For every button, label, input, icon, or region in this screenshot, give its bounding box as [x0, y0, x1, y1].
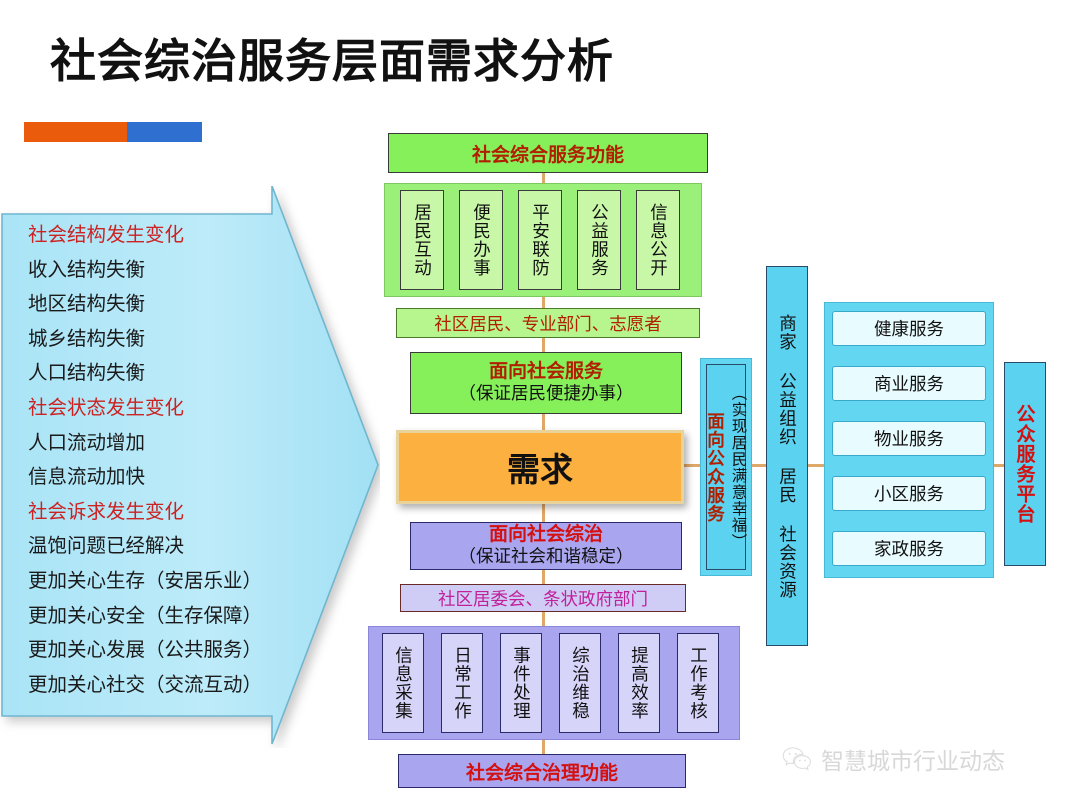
arrow-line: 更加关心生存（安居乐业） — [28, 564, 296, 599]
center-service-title: 面向社会服务 — [489, 360, 603, 384]
right-public-service-title: 面向公众服务 — [703, 412, 728, 523]
watermark: 智慧城市行业动态 — [782, 742, 1005, 776]
arrow-line: 地区结构失衡 — [28, 287, 296, 322]
arrow-text-list: 社会结构发生变化 收入结构失衡 地区结构失衡 城乡结构失衡 人口结构失衡 社会状… — [28, 218, 296, 702]
connector-line — [542, 338, 545, 352]
center-top-item[interactable]: 居民互动 — [400, 190, 444, 290]
watermark-text: 智慧城市行业动态 — [821, 742, 1005, 776]
center-top-header[interactable]: 社会综合服务功能 — [388, 133, 708, 173]
center-actors-top[interactable]: 社区居民、专业部门、志愿者 — [396, 308, 700, 338]
center-bottom-header[interactable]: 社会综合治理功能 — [398, 754, 686, 788]
arrow-line: 人口结构失衡 — [28, 356, 296, 391]
arrow-line: 城乡结构失衡 — [28, 322, 296, 357]
arrow-line: 社会状态发生变化 — [28, 391, 296, 426]
right-service-item[interactable]: 商业服务 — [832, 366, 986, 401]
connector-line — [542, 612, 545, 626]
left-arrow-panel: 社会结构发生变化 收入结构失衡 地区结构失衡 城乡结构失衡 人口结构失衡 社会状… — [0, 186, 380, 748]
right-service-item[interactable]: 小区服务 — [832, 476, 986, 511]
accent-bar — [24, 122, 202, 142]
connector-line — [542, 504, 545, 522]
right-service-item[interactable]: 健康服务 — [832, 311, 986, 346]
center-top-item[interactable]: 便民办事 — [459, 190, 503, 290]
right-platform-text: 公众服务平台 — [1012, 404, 1039, 524]
arrow-line: 信息流动加快 — [28, 460, 296, 495]
connector-line — [542, 570, 545, 584]
center-governance-block[interactable]: 面向社会综治 （保证社会和谐稳定） — [410, 522, 682, 570]
arrow-line: 人口流动增加 — [28, 426, 296, 461]
center-bottom-item[interactable]: 事件处理 — [500, 633, 542, 733]
connector-line — [542, 414, 545, 430]
right-platform-column[interactable]: 公众服务平台 — [1004, 362, 1046, 566]
accent-bar-orange — [24, 122, 127, 142]
connector-line — [542, 740, 545, 754]
right-service-item[interactable]: 家政服务 — [832, 531, 986, 566]
center-bottom-item[interactable]: 提高效率 — [618, 633, 660, 733]
diagram-canvas: 社会综治服务层面需求分析 社会结构发生变化 收入结构失衡 地区结构失衡 城 — [0, 0, 1080, 810]
right-public-service-sub: （实现居民满意幸福） — [728, 385, 750, 550]
center-actors-bottom[interactable]: 社区居委会、条状政府部门 — [400, 584, 686, 612]
wechat-icon — [782, 746, 812, 772]
arrow-line: 收入结构失衡 — [28, 253, 296, 288]
center-bottom-item[interactable]: 日常工作 — [441, 633, 483, 733]
right-service-item[interactable]: 物业服务 — [832, 421, 986, 456]
arrow-line: 更加关心安全（生存保障） — [28, 599, 296, 634]
connector-line — [542, 296, 545, 308]
center-top-item[interactable]: 平安联防 — [518, 190, 562, 290]
arrow-line: 社会诉求发生变化 — [28, 495, 296, 530]
center-top-item[interactable]: 公益服务 — [577, 190, 621, 290]
center-governance-title: 面向社会综治 — [489, 523, 603, 547]
center-bottom-item[interactable]: 综治维稳 — [559, 633, 601, 733]
center-service-block[interactable]: 面向社会服务 （保证居民便捷办事） — [410, 352, 682, 414]
center-bottom-item[interactable]: 工作考核 — [677, 633, 719, 733]
arrow-line: 更加关心发展（公共服务） — [28, 633, 296, 668]
center-top-item[interactable]: 信息公开 — [636, 190, 680, 290]
center-core-demand[interactable]: 需求 — [396, 430, 684, 504]
arrow-line: 社会结构发生变化 — [28, 218, 296, 253]
right-resources-column[interactable]: 商家 公益组织 居民 社会资源 — [766, 266, 808, 646]
arrow-line: 更加关心社交（交流互动） — [28, 668, 296, 703]
center-service-sub: （保证居民便捷办事） — [459, 384, 634, 406]
center-bottom-item[interactable]: 信息采集 — [382, 633, 424, 733]
right-resources-text: 商家 公益组织 居民 社会资源 — [775, 314, 800, 599]
center-governance-sub: （保证社会和谐稳定） — [459, 547, 634, 569]
arrow-line: 温饱问题已经解决 — [28, 529, 296, 564]
accent-bar-blue — [127, 122, 202, 142]
right-public-service-block[interactable]: 面向公众服务 （实现居民满意幸福） — [706, 364, 746, 570]
page-title: 社会综治服务层面需求分析 — [50, 38, 614, 84]
